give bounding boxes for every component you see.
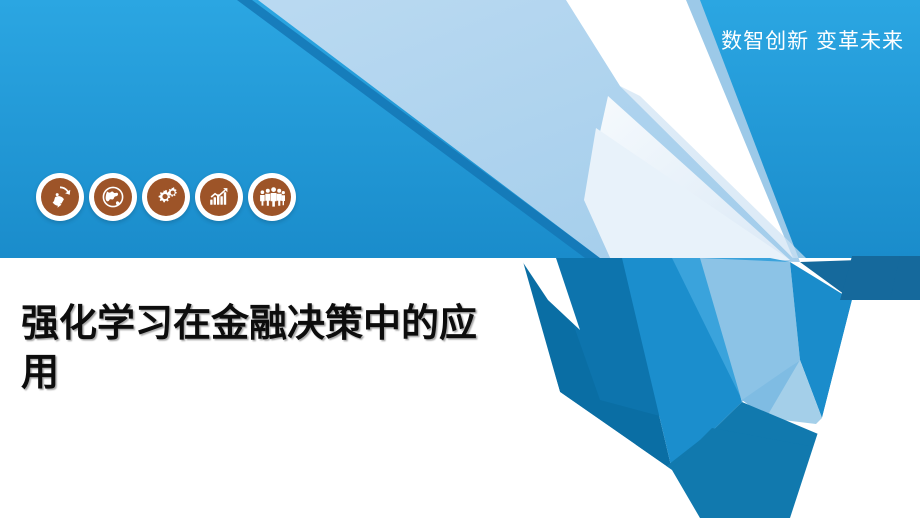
gears-icon xyxy=(147,178,185,216)
title-slide: 数智创新 变革未来 xyxy=(0,0,920,518)
recycle-arrows-icon-badge[interactable] xyxy=(36,173,84,221)
globe-icon-badge[interactable] xyxy=(89,173,137,221)
bar-chart-icon xyxy=(200,178,238,216)
globe-icon xyxy=(94,178,132,216)
people-group-icon-badge[interactable] xyxy=(248,173,296,221)
slide-tagline: 数智创新 变革未来 xyxy=(690,27,904,57)
icon-row xyxy=(36,173,296,221)
people-group-icon xyxy=(253,178,291,216)
background-polygon-artwork xyxy=(0,0,920,518)
bar-chart-icon-badge[interactable] xyxy=(195,173,243,221)
gears-icon-badge[interactable] xyxy=(142,173,190,221)
recycle-arrows-icon xyxy=(41,178,79,216)
page-title: 强化学习在金融决策中的应用 xyxy=(21,300,501,398)
